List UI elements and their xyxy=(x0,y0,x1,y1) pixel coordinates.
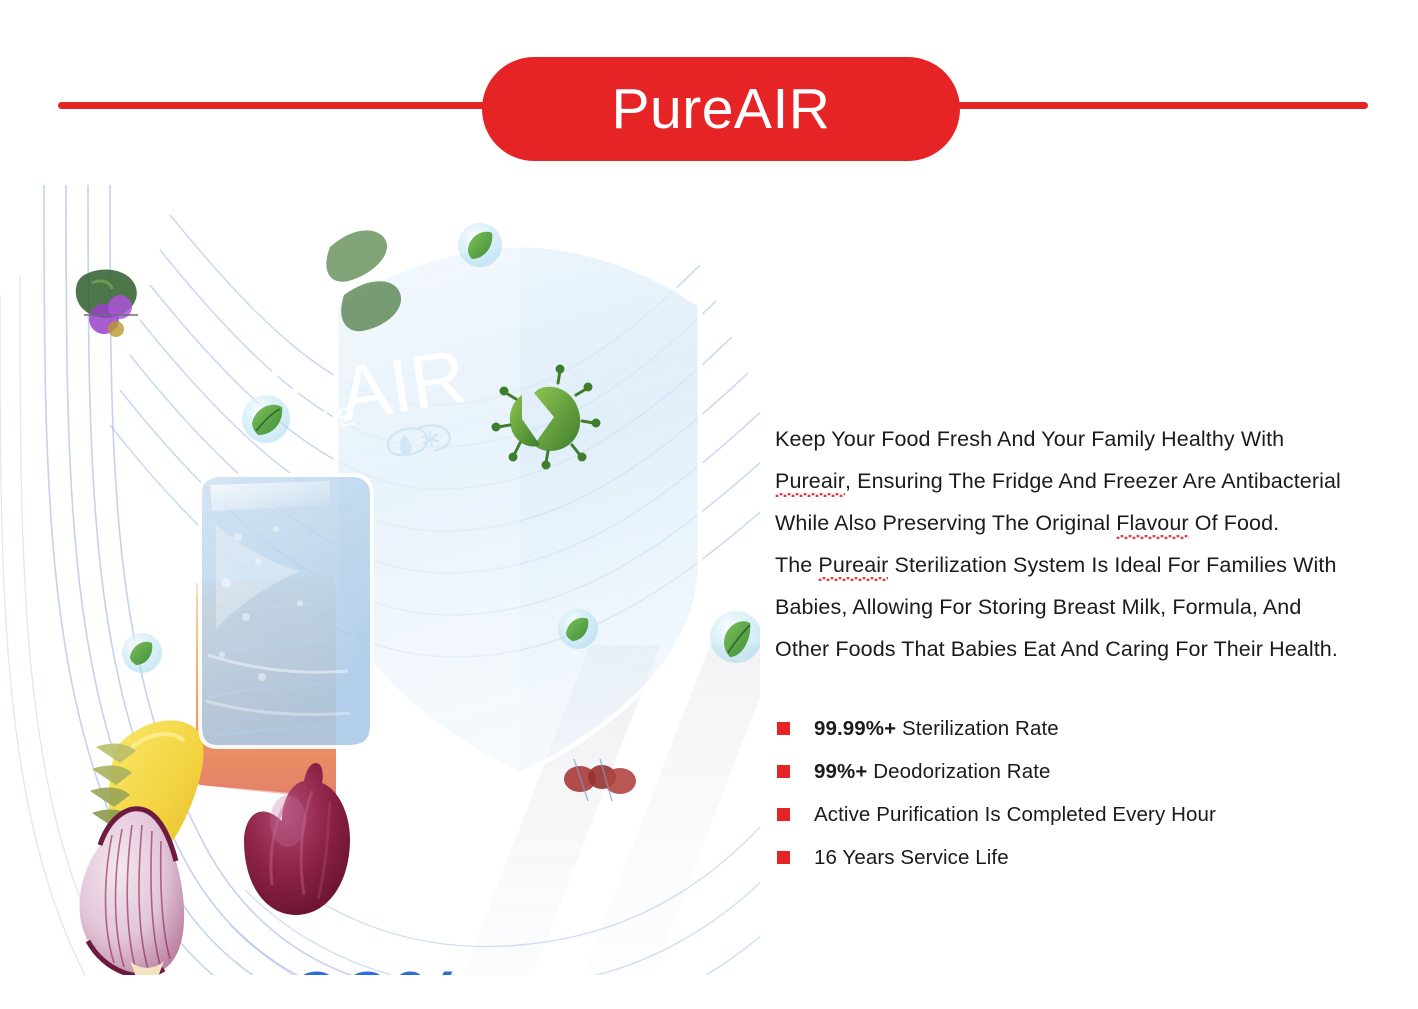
copy-line-1-post: , Ensuring The Fridge And Freezer Are An… xyxy=(845,469,1341,493)
copy-line-3-misspelled: Pureair xyxy=(818,553,888,577)
bullet-square-icon xyxy=(777,765,790,778)
description-copy: Keep Your Food Fresh And Your Family Hea… xyxy=(775,418,1387,670)
copy-line-3-pre: The xyxy=(775,553,818,577)
copy-line-2: While Also Preserving The Original Flavo… xyxy=(775,502,1387,544)
right-rule xyxy=(950,102,1368,109)
bullet-rest: Active Purification Is Completed Every H… xyxy=(814,803,1216,826)
feature-bullet-list: 99.99%+ Sterilization Rate 99%+ Deodoriz… xyxy=(777,712,1377,884)
copy-line-1-misspelled: Pureair xyxy=(775,469,845,493)
copy-line-2-misspelled: Flavour xyxy=(1116,511,1188,535)
red-onion-halved xyxy=(79,809,184,975)
copy-line-2-post: Of Food. xyxy=(1189,511,1280,535)
copy-line-2-pre: While Also Preserving The Original xyxy=(775,511,1116,535)
list-item: Active Purification Is Completed Every H… xyxy=(777,798,1377,841)
hero-headline-number: 99%+ xyxy=(245,967,575,975)
bullet-bold: 99%+ xyxy=(814,760,867,783)
hero-headline: 99%+ Sterilization and Deodorization xyxy=(245,967,575,975)
protective-shield xyxy=(336,245,700,775)
product-feature-banner: PureAIR xyxy=(0,0,1418,1009)
copy-line-0-pre: Keep Your Food Fresh And Your Family Hea… xyxy=(775,427,1284,451)
bullet-square-icon xyxy=(777,851,790,864)
left-rule xyxy=(58,102,490,109)
bullet-rest: 16 Years Service Life xyxy=(814,846,1009,869)
copy-line-0: Keep Your Food Fresh And Your Family Hea… xyxy=(775,418,1387,460)
copy-line-3: The Pureair Sterilization System Is Idea… xyxy=(775,544,1387,586)
brand-title-pill: PureAIR xyxy=(482,57,960,161)
copy-line-5: Other Foods That Babies Eat And Caring F… xyxy=(775,628,1387,670)
hero-illustration: P URE AIR xyxy=(0,185,760,975)
copy-line-1: Pureair, Ensuring The Fridge And Freezer… xyxy=(775,460,1387,502)
bullet-bold: 99.99%+ xyxy=(814,717,896,740)
list-item: 99.99%+ Sterilization Rate xyxy=(777,712,1377,755)
food-product-composition: P URE AIR xyxy=(0,185,760,975)
page-title: PureAIR xyxy=(612,81,831,138)
red-bacteria xyxy=(564,759,636,801)
bullet-square-icon xyxy=(777,808,790,821)
pureair-product-block xyxy=(200,475,372,747)
copy-line-4-pre: Babies, Allowing For Storing Breast Milk… xyxy=(775,595,1301,619)
bullet-text: 99%+ Deodorization Rate xyxy=(814,755,1051,789)
copy-line-4: Babies, Allowing For Storing Breast Milk… xyxy=(775,586,1387,628)
banner-header: PureAIR xyxy=(0,0,1418,200)
bullet-text: 16 Years Service Life xyxy=(814,841,1009,875)
list-item: 99%+ Deodorization Rate xyxy=(777,755,1377,798)
bullet-square-icon xyxy=(777,722,790,735)
bullet-rest: Deodorization Rate xyxy=(867,760,1050,783)
bullet-text: 99.99%+ Sterilization Rate xyxy=(814,712,1059,746)
list-item: 16 Years Service Life xyxy=(777,841,1377,884)
bullet-text: Active Purification Is Completed Every H… xyxy=(814,798,1216,832)
bullet-rest: Sterilization Rate xyxy=(896,717,1059,740)
copy-line-3-post: Sterilization System Is Ideal For Famili… xyxy=(888,553,1336,577)
copy-line-5-pre: Other Foods That Babies Eat And Caring F… xyxy=(775,637,1338,661)
